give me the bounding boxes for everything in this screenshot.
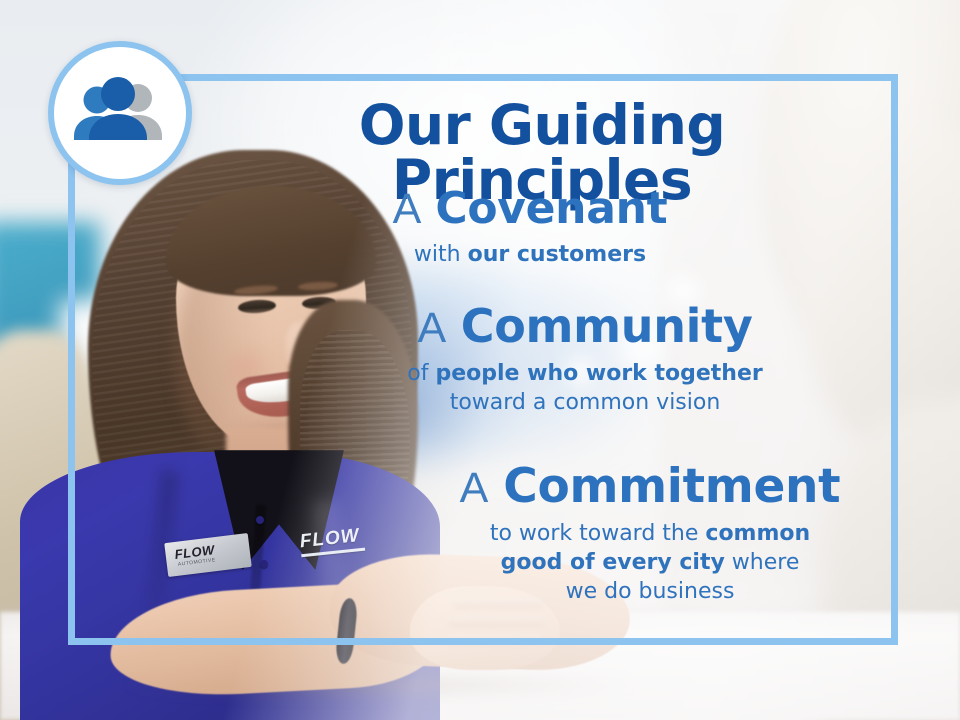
shirt-button <box>260 560 268 568</box>
people-group-icon <box>68 76 172 150</box>
finger <box>448 616 546 627</box>
banner-canvas: FLOW AUTOMOTIVE FLOW <box>0 0 960 720</box>
finger <box>452 598 544 609</box>
shirt-button <box>256 516 264 524</box>
finger <box>446 634 542 645</box>
people-group-icon-badge <box>48 41 192 185</box>
